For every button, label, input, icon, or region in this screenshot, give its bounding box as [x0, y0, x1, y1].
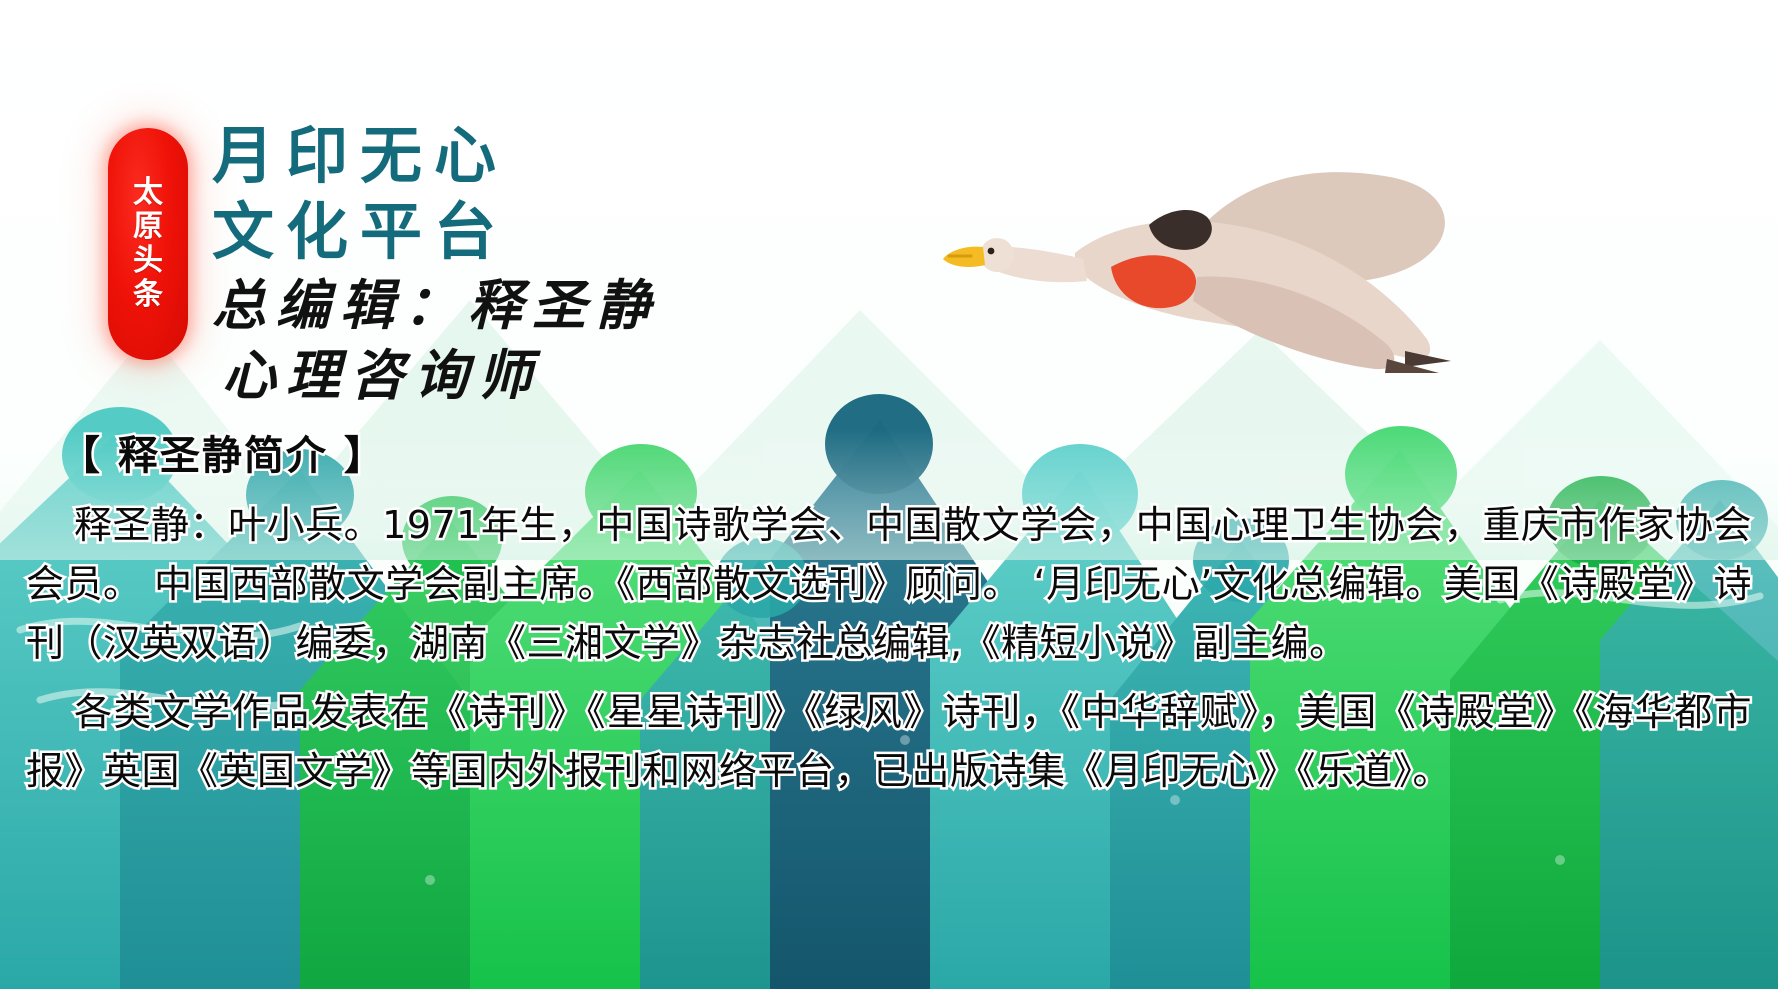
seal-char-2: 原	[133, 211, 163, 243]
editor-in-chief-line: 总编辑：释圣静	[212, 270, 660, 340]
bio-paragraph-1: 释圣静：叶小兵。1971年生，中国诗歌学会、中国散文学会，中国心理卫生协会，重庆…	[26, 496, 1752, 673]
seal-char-3: 头	[133, 245, 163, 277]
brand-title-line-1: 月印无心	[212, 118, 660, 194]
poster-header: 太 原 头 条 月印无心 文化平台 总编辑：释圣静 心理咨询师	[0, 0, 1778, 470]
brand-title-line-2: 文化平台	[212, 194, 660, 270]
section-title: 【 释圣静简介 】	[60, 430, 1778, 482]
taiyuan-toutiao-seal: 太 原 头 条	[108, 128, 188, 360]
seal-char-1: 太	[133, 177, 163, 209]
poster-canvas: 太 原 头 条 月印无心 文化平台 总编辑：释圣静 心理咨询师	[0, 0, 1778, 989]
bio-paragraph-2: 各类文学作品发表在《诗刊》《星星诗刊》《绿风》诗刊，《中华辞赋》，美国《诗殿堂》…	[26, 683, 1752, 801]
credential-line: 心理咨询师	[212, 340, 660, 410]
flying-goose-icon	[935, 155, 1465, 405]
seal-char-4: 条	[133, 279, 163, 311]
article-body: 【 释圣静简介 】 释圣静：叶小兵。1971年生，中国诗歌学会、中国散文学会，中…	[0, 430, 1778, 805]
title-block: 月印无心 文化平台 总编辑：释圣静 心理咨询师	[212, 118, 660, 410]
